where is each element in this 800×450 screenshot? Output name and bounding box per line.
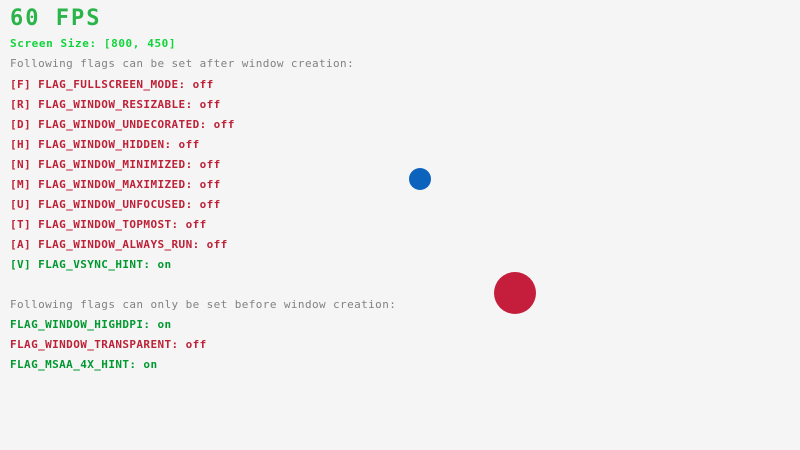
flag-row-window-undecorated[interactable]: [D] FLAG_WINDOW_UNDECORATED: off — [10, 119, 235, 130]
flag-row-window-unfocused[interactable]: [U] FLAG_WINDOW_UNFOCUSED: off — [10, 199, 221, 210]
after-creation-section-header: Following flags can be set after window … — [10, 58, 354, 69]
flag-row-vsync-hint[interactable]: [V] FLAG_VSYNC_HINT: on — [10, 259, 172, 270]
raylib-window-canvas[interactable]: 60 FPS Screen Size: [800, 450] Following… — [0, 0, 800, 450]
flag-row-msaa-4x-hint: FLAG_MSAA_4X_HINT: on — [10, 359, 157, 370]
flag-row-window-always-run[interactable]: [A] FLAG_WINDOW_ALWAYS_RUN: off — [10, 239, 228, 250]
flag-row-window-transparent: FLAG_WINDOW_TRANSPARENT: off — [10, 339, 207, 350]
flag-row-window-maximized[interactable]: [M] FLAG_WINDOW_MAXIMIZED: off — [10, 179, 221, 190]
flag-row-window-hidden[interactable]: [H] FLAG_WINDOW_HIDDEN: off — [10, 139, 200, 150]
flag-row-window-highdpi: FLAG_WINDOW_HIGHDPI: on — [10, 319, 172, 330]
flag-row-fullscreen-mode[interactable]: [F] FLAG_FULLSCREEN_MODE: off — [10, 79, 214, 90]
blue-ball-shape — [409, 168, 431, 190]
fps-counter: 60 FPS — [10, 8, 101, 30]
red-ball-shape — [494, 272, 536, 314]
flag-row-window-resizable[interactable]: [R] FLAG_WINDOW_RESIZABLE: off — [10, 99, 221, 110]
flag-row-window-minimized[interactable]: [N] FLAG_WINDOW_MINIMIZED: off — [10, 159, 221, 170]
before-creation-section-header: Following flags can only be set before w… — [10, 299, 396, 310]
screen-size-label: Screen Size: [800, 450] — [10, 38, 176, 49]
flag-row-window-topmost[interactable]: [T] FLAG_WINDOW_TOPMOST: off — [10, 219, 207, 230]
